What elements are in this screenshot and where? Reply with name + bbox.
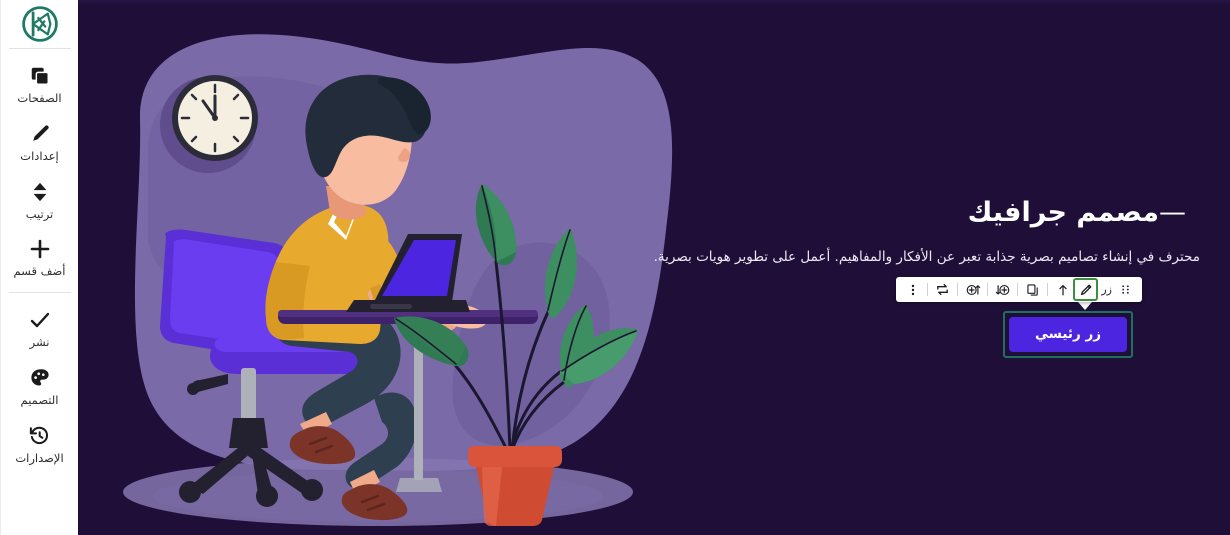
element-toolbar[interactable]: زر xyxy=(896,277,1142,302)
sidebar-item-arrange[interactable]: ترتيب xyxy=(1,171,78,229)
sidebar-item-label: أضف قسم xyxy=(14,265,66,279)
toolbar-separator xyxy=(1047,283,1048,296)
sidebar-action-label: نشر xyxy=(30,336,50,350)
hero-text-block[interactable]: —مصمم جرافيك محترف في إنشاء تصاميم بصرية… xyxy=(640,196,1200,269)
sidebar-item-label: إعدادات xyxy=(20,150,58,164)
toolbar-separator xyxy=(957,283,958,296)
toolbar-separator xyxy=(927,283,928,296)
add-section-above-icon[interactable] xyxy=(962,279,983,300)
palette-design-icon xyxy=(29,366,51,390)
page-canvas[interactable]: —مصمم جرافيك محترف في إنشاء تصاميم بصرية… xyxy=(78,0,1230,535)
site-logo[interactable] xyxy=(1,0,78,48)
toolbar-caret xyxy=(1078,302,1092,310)
sidebar-primary-group: الصفحات إعدادات ترتيب xyxy=(1,49,78,292)
add-section-below-icon[interactable] xyxy=(992,279,1013,300)
sidebar-action-label: التصميم xyxy=(21,394,59,408)
check-publish-icon xyxy=(28,308,52,332)
editor-sidebar: الصفحات إعدادات ترتيب xyxy=(0,0,78,535)
toolbar-separator xyxy=(1017,283,1018,296)
primary-button-selection-frame: زر رئيسي xyxy=(1003,311,1133,358)
sidebar-item-publish[interactable]: نشر xyxy=(1,299,78,357)
hero-illustration xyxy=(78,0,698,535)
sidebar-action-label: الإصدارات xyxy=(15,452,63,466)
pencil-settings-icon xyxy=(29,122,51,146)
sidebar-item-pages[interactable]: الصفحات xyxy=(1,55,78,113)
pages-icon xyxy=(29,64,51,88)
sidebar-item-settings[interactable]: إعدادات xyxy=(1,113,78,171)
sidebar-actions-group: نشر التصميم xyxy=(1,293,78,478)
sidebar-item-add-section[interactable]: أضف قسم xyxy=(1,228,78,286)
swap-sections-icon[interactable] xyxy=(932,279,953,300)
site-logo-icon xyxy=(21,5,59,43)
kebab-menu-icon[interactable] xyxy=(902,279,923,300)
toolbar-element-label[interactable]: زر xyxy=(1098,283,1115,296)
title-dash: — xyxy=(1159,196,1186,230)
pencil-edit-icon[interactable] xyxy=(1073,278,1098,301)
sidebar-item-versions[interactable]: الإصدارات xyxy=(1,415,78,473)
sidebar-item-design[interactable]: التصميم xyxy=(1,357,78,415)
drag-handle-icon[interactable] xyxy=(1115,279,1136,300)
duplicate-icon[interactable] xyxy=(1022,279,1043,300)
primary-button[interactable]: زر رئيسي xyxy=(1009,317,1127,352)
history-versions-icon xyxy=(28,424,51,448)
toolbar-separator xyxy=(987,283,988,296)
reorder-arrows-icon xyxy=(30,180,50,204)
move-up-icon[interactable] xyxy=(1052,279,1073,300)
page-title: —مصمم جرافيك xyxy=(640,196,1200,230)
title-text: مصمم جرافيك xyxy=(968,197,1159,228)
plus-icon xyxy=(28,237,52,261)
sidebar-item-label: الصفحات xyxy=(17,92,61,106)
page-body-text: محترف في إنشاء تصاميم بصرية جذابة تعبر ع… xyxy=(640,246,1200,269)
website-builder-app: —مصمم جرافيك محترف في إنشاء تصاميم بصرية… xyxy=(0,0,1230,535)
sidebar-item-label: ترتيب xyxy=(26,208,54,222)
